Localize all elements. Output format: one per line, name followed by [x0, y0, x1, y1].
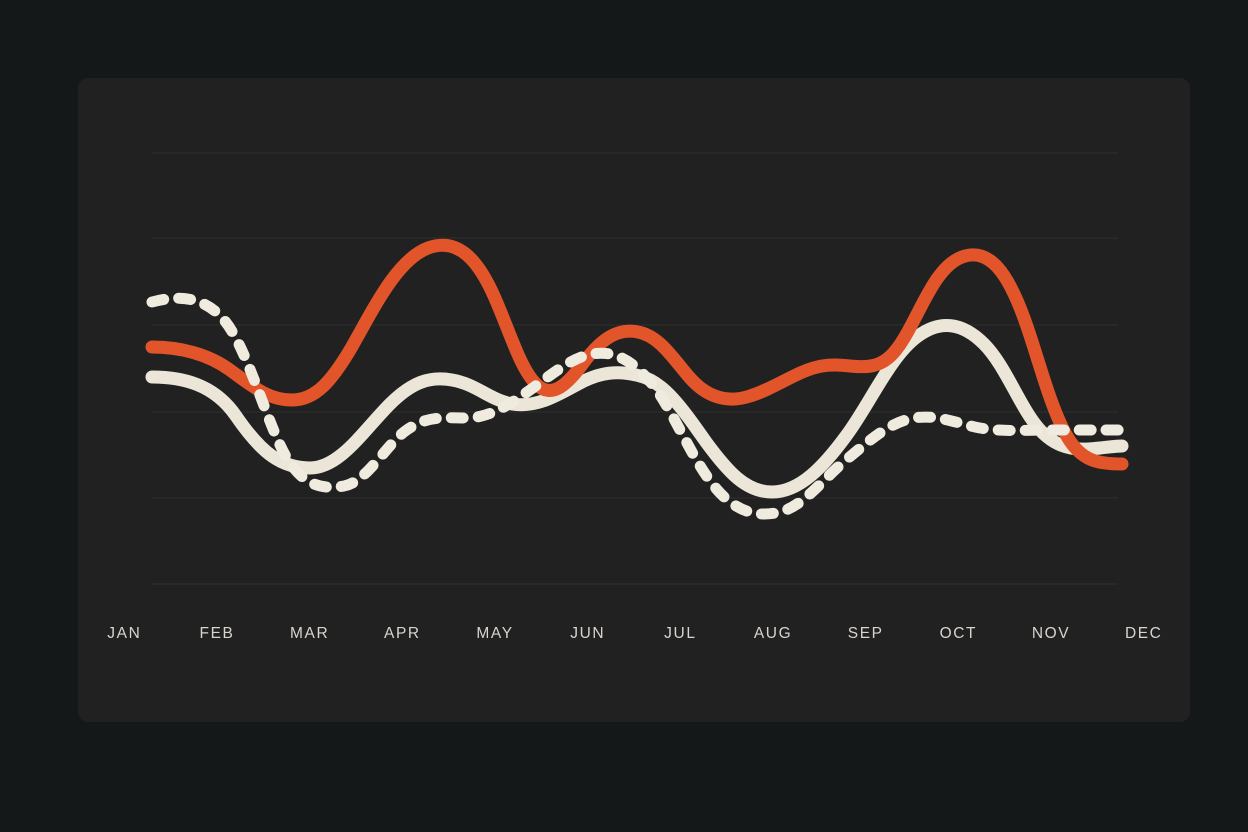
x-tick-jul: JUL: [634, 625, 727, 643]
chart-card: JAN FEB MAR APR MAY JUN JUL AUG SEP OCT …: [78, 78, 1190, 722]
x-tick-feb: FEB: [171, 625, 264, 643]
x-tick-may: MAY: [449, 625, 542, 643]
x-tick-jan: JAN: [78, 625, 171, 643]
x-tick-aug: AUG: [727, 625, 820, 643]
x-axis-tick-labels: JAN FEB MAR APR MAY JUN JUL AUG SEP OCT …: [78, 614, 1190, 654]
x-tick-mar: MAR: [263, 625, 356, 643]
x-tick-dec: DEC: [1097, 625, 1190, 643]
x-tick-sep: SEP: [819, 625, 912, 643]
x-tick-apr: APR: [356, 625, 449, 643]
page-root: JAN FEB MAR APR MAY JUN JUL AUG SEP OCT …: [0, 0, 1248, 832]
x-tick-oct: OCT: [912, 625, 1005, 643]
x-tick-jun: JUN: [541, 625, 634, 643]
x-tick-nov: NOV: [1005, 625, 1098, 643]
